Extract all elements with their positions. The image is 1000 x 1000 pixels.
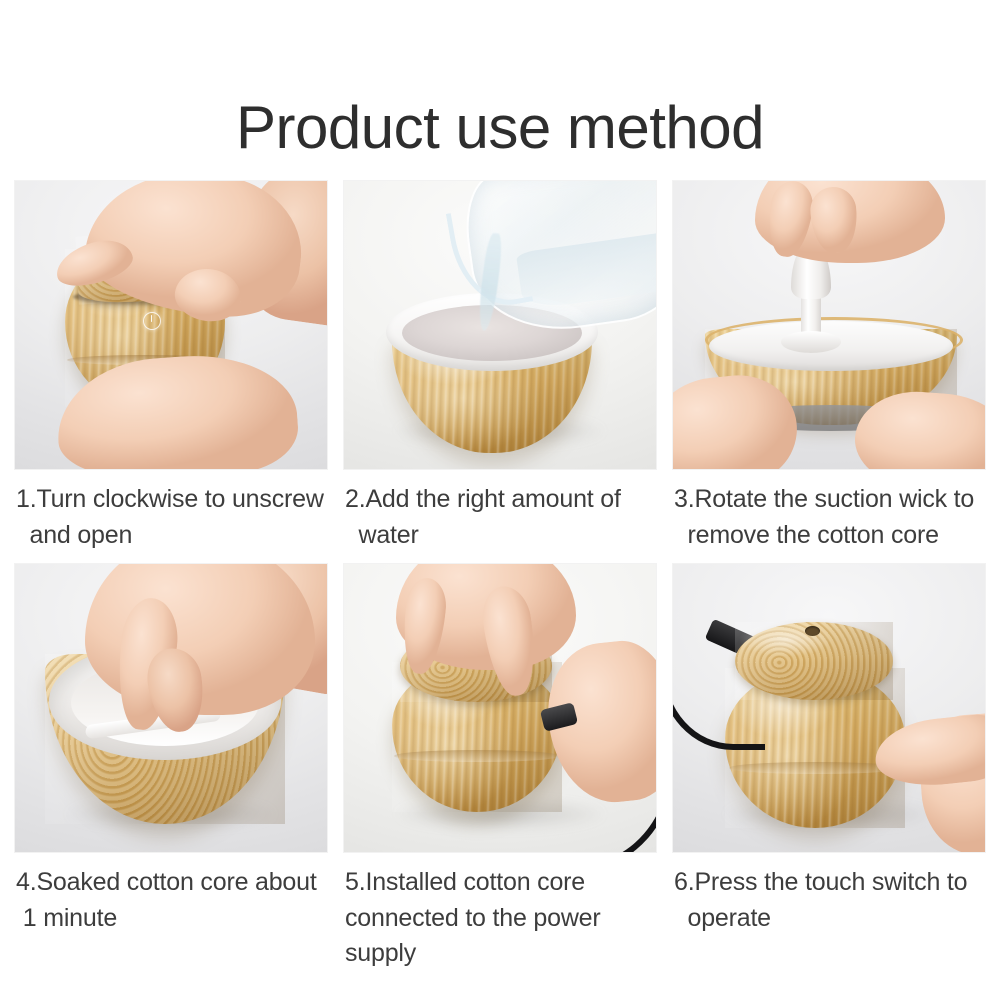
step-4-caption: 4.Soaked cotton core about 1 minute: [14, 865, 328, 936]
step-6-photo: [672, 563, 986, 853]
wick-collar: [781, 331, 841, 353]
page-title: Product use method: [0, 96, 1000, 159]
step-1-photo: [14, 180, 328, 470]
step-card-5: 5.Installed cotton core connected to the…: [343, 563, 657, 972]
step-3-photo: [672, 180, 986, 470]
step-4-photo: [14, 563, 328, 853]
steps-grid: 1.Turn clockwise to unscrew and open 2.A…: [14, 180, 986, 972]
step-card-2: 2.Add the right amount of water: [343, 180, 657, 553]
step-card-3: 3.Rotate the suction wick to remove the …: [672, 180, 986, 553]
step-card-4: 4.Soaked cotton core about 1 minute: [14, 563, 328, 972]
mist-outlet-hole-6: [805, 626, 820, 636]
body-seam-5: [394, 750, 560, 762]
step-5-caption: 5.Installed cotton core connected to the…: [343, 865, 657, 972]
step-1-caption: 1.Turn clockwise to unscrew and open: [14, 482, 328, 553]
step-card-6: 6.Press the touch switch to operate: [672, 563, 986, 972]
step-5-photo: [343, 563, 657, 853]
step-6-caption: 6.Press the touch switch to operate: [672, 865, 986, 936]
step-3-caption: 3.Rotate the suction wick to remove the …: [672, 482, 986, 553]
power-button-icon: [143, 312, 161, 330]
step-card-1: 1.Turn clockwise to unscrew and open: [14, 180, 328, 553]
product-instruction-infographic: Product use method 1.Turn clockwise to u…: [0, 0, 1000, 1000]
step-2-photo: [343, 180, 657, 470]
step-2-caption: 2.Add the right amount of water: [343, 482, 657, 553]
